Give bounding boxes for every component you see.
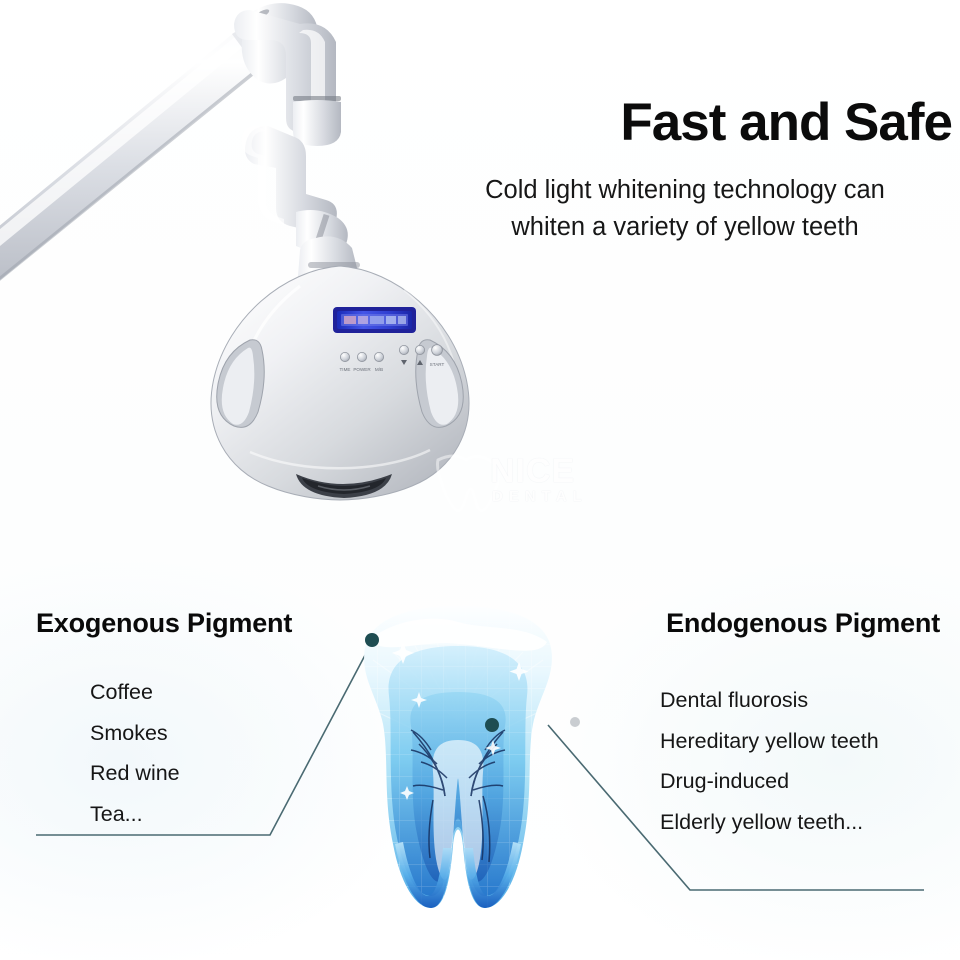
connector-line-left bbox=[36, 642, 372, 835]
section-heading-exogenous: Exogenous Pigment bbox=[36, 608, 292, 639]
callout-dot-right bbox=[485, 718, 499, 732]
list-item: Red wine bbox=[90, 753, 180, 794]
tooth-enamel bbox=[333, 600, 583, 920]
callout-dot-left bbox=[365, 633, 379, 647]
product-infographic: TIME POWER M/B START bbox=[0, 0, 960, 960]
page-title: Fast and Safe bbox=[540, 96, 952, 150]
page-subtitle: Cold light whitening technology can whit… bbox=[418, 172, 952, 247]
list-item: Tea... bbox=[90, 794, 180, 835]
start-button bbox=[432, 345, 443, 356]
list-item: Drug-induced bbox=[660, 761, 879, 802]
lcd-display bbox=[333, 307, 416, 333]
power-button bbox=[357, 352, 366, 361]
exogenous-list: Coffee Smokes Red wine Tea... bbox=[90, 672, 180, 834]
decrease-button bbox=[399, 345, 408, 354]
svg-text:TIME: TIME bbox=[340, 367, 351, 372]
section-heading-endogenous: Endogenous Pigment bbox=[666, 608, 940, 639]
brand-watermark: NICE DENTAL bbox=[430, 450, 620, 512]
list-item: Dental fluorosis bbox=[660, 680, 879, 721]
svg-text:M/B: M/B bbox=[375, 367, 383, 372]
increase-button bbox=[415, 345, 424, 354]
mode-button bbox=[374, 352, 383, 361]
time-button bbox=[340, 352, 349, 361]
svg-text:POWER: POWER bbox=[353, 367, 371, 372]
list-item: Elderly yellow teeth... bbox=[660, 802, 879, 843]
molar-cross-section-illustration bbox=[333, 600, 583, 920]
svg-text:START: START bbox=[430, 362, 445, 367]
list-item: Hereditary yellow teeth bbox=[660, 721, 879, 762]
small-grey-dot bbox=[570, 717, 580, 727]
watermark-brand: NICE bbox=[490, 452, 575, 491]
watermark-sub: DENTAL bbox=[492, 488, 588, 505]
list-item: Coffee bbox=[90, 672, 180, 713]
list-item: Smokes bbox=[90, 713, 180, 754]
endogenous-list: Dental fluorosis Hereditary yellow teeth… bbox=[660, 680, 879, 842]
